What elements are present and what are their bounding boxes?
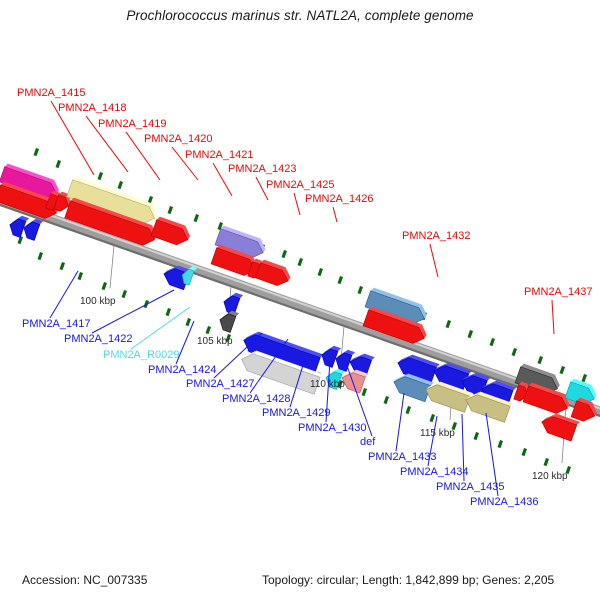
small-feature [194,214,200,222]
small-feature [38,252,44,260]
gene-label-pmn2a_1427[interactable]: PMN2A_1427 [186,379,255,390]
small-feature [582,374,588,382]
gene-label-pmn2a_1418[interactable]: PMN2A_1418 [58,103,127,114]
gene-feature[interactable] [151,216,193,248]
label-leader-line [396,393,404,451]
gene-feature[interactable] [255,259,293,289]
small-feature [430,414,436,422]
gene-label-pmn2a_1436[interactable]: PMN2A_1436 [470,497,539,508]
small-feature [406,406,412,414]
accession-text: Accession: NC_007335 [22,573,147,587]
small-feature [206,326,212,334]
small-feature [166,308,172,316]
gene-label-pmn2a_1428[interactable]: PMN2A_1428 [222,394,291,405]
genome-summary-text: Topology: circular; Length: 1,842,899 bp… [262,573,554,587]
small-feature [168,206,174,214]
small-feature [34,148,40,156]
gene-label-pmn2a_1422[interactable]: PMN2A_1422 [64,334,133,345]
small-feature [186,318,192,326]
small-feature [298,258,304,266]
gene-label-pmn2a_1425[interactable]: PMN2A_1425 [266,180,335,191]
small-feature [474,432,480,440]
gene-label-pmn2a_1423[interactable]: PMN2A_1423 [228,164,297,175]
axis-tick-label: 110 kbp [310,379,345,390]
axis-tick-label: 100 kbp [80,296,116,307]
small-feature [78,272,84,280]
axis-tick-label: 120 kbp [532,471,568,482]
small-feature [538,356,544,364]
small-feature [60,262,66,270]
small-feature [282,250,288,258]
gene-label-pmn2a_1437[interactable]: PMN2A_1437 [524,287,593,298]
small-feature [384,396,390,404]
small-feature [338,276,344,284]
small-feature [102,282,108,290]
gene-label-pmn2a_r0029[interactable]: PMN2A_R0029 [103,350,179,361]
small-feature [512,348,518,356]
label-leader-line [333,207,337,222]
label-leader-line [430,244,438,277]
small-feature [98,172,104,180]
small-feature [358,286,364,294]
label-leader-line [294,193,300,215]
gene-label-pmn2a_1419[interactable]: PMN2A_1419 [98,119,167,130]
small-feature [122,290,128,298]
small-feature [446,320,452,328]
gene-label-pmn2a_1429[interactable]: PMN2A_1429 [262,408,331,419]
axis-tick [110,246,114,288]
small-feature [362,388,368,396]
label-leader-line [552,300,554,334]
gene-label-pmn2a_1430[interactable]: PMN2A_1430 [298,423,367,434]
axis-tick-label: 115 kbp [420,428,455,439]
small-feature [118,181,124,189]
small-feature [498,440,504,448]
label-leader-line [50,271,78,318]
gene-label-pmn2a_1435[interactable]: PMN2A_1435 [436,482,505,493]
gene-label-def[interactable]: def [360,437,375,448]
label-leader-line [131,307,190,349]
gene-label-pmn2a_1421[interactable]: PMN2A_1421 [185,150,254,161]
small-feature [490,338,496,346]
small-feature [56,160,62,168]
gene-label-pmn2a_1420[interactable]: PMN2A_1420 [144,134,213,145]
genome-map-viewer: Prochlorococcus marinus str. NATL2A, com… [0,0,600,600]
small-feature [318,268,324,276]
small-feature [522,448,528,456]
small-feature [468,330,474,338]
gene-label-pmn2a_1417[interactable]: PMN2A_1417 [22,319,91,330]
gene-label-pmn2a_1415[interactable]: PMN2A_1415 [17,88,86,99]
gene-label-pmn2a_1426[interactable]: PMN2A_1426 [305,194,374,205]
small-feature [560,366,566,374]
gene-label-pmn2a_1433[interactable]: PMN2A_1433 [368,452,437,463]
gene-label-pmn2a_1424[interactable]: PMN2A_1424 [148,365,217,376]
gene-label-pmn2a_1432[interactable]: PMN2A_1432 [402,231,471,242]
axis-tick-label: 105 kbp [197,336,233,347]
gene-label-pmn2a_1434[interactable]: PMN2A_1434 [400,467,469,478]
small-feature [544,458,550,466]
